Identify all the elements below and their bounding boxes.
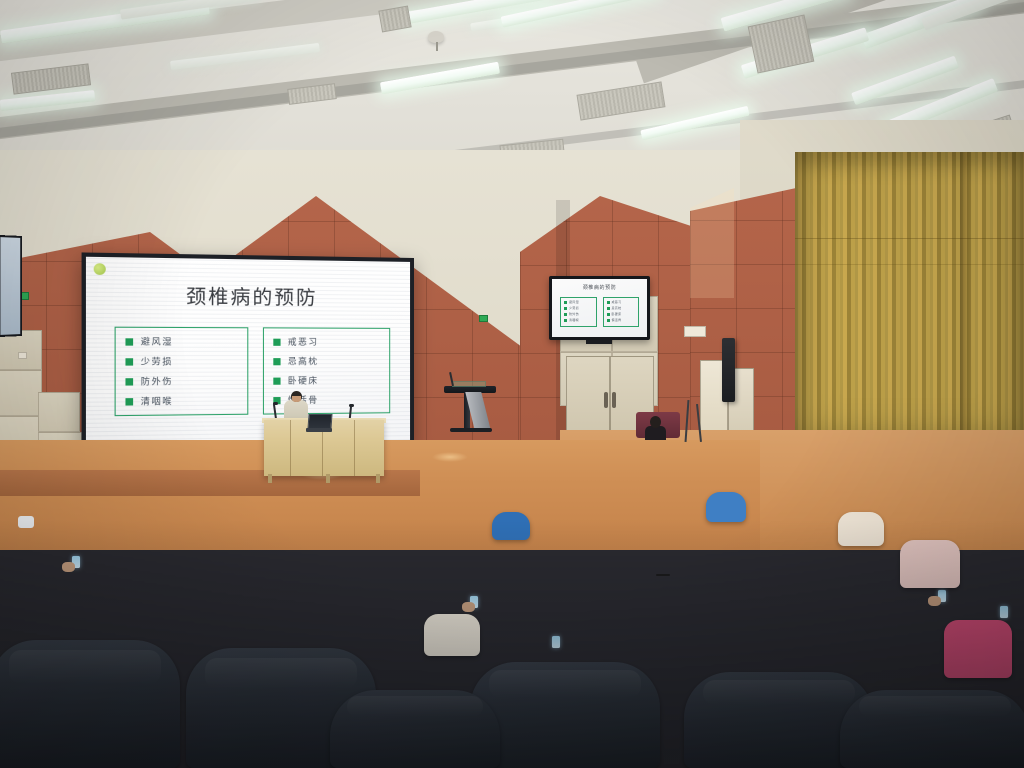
- microphone-head-icon: [273, 402, 278, 405]
- curtain-seam: [795, 264, 1024, 265]
- slide-bullet-left-label: 少劳损: [141, 355, 173, 368]
- audience-jacket: [838, 512, 884, 546]
- face-mask: [18, 516, 34, 528]
- slide-bullet-box-right: 戒恶习忌高枕卧硬床慎活骨: [263, 327, 390, 414]
- monitor-slide-title: 颈椎病的预防: [552, 284, 647, 291]
- audience-jacket: [944, 620, 1012, 678]
- monitor-bullet-right-label: 卧硬床: [612, 312, 622, 316]
- linear-fluorescent-tube: [170, 43, 320, 70]
- square-bullet-icon: [607, 301, 610, 304]
- audience-hand: [928, 596, 941, 606]
- monitor-bullet-left-item: 避风湿: [564, 300, 594, 304]
- ceiling-smoke-detector-icon: [428, 31, 444, 43]
- wall-control-panel[interactable]: [684, 326, 706, 337]
- audience-jacket: [706, 492, 746, 522]
- square-bullet-icon: [564, 319, 567, 322]
- slide-bullet-left-item: 少劳损: [125, 355, 242, 368]
- audience-hand: [462, 602, 475, 612]
- monitor-bullet-right-item: 忌高枕: [607, 306, 637, 310]
- square-bullet-icon: [273, 377, 280, 384]
- slide-bullet-left-label: 防外伤: [141, 375, 173, 388]
- audience-jacket: [424, 614, 480, 656]
- square-bullet-icon: [273, 338, 280, 345]
- slide-bullet-left-item: 清咽喉: [125, 394, 242, 407]
- slide-bullet-left-label: 清咽喉: [141, 395, 173, 408]
- ceiling-air-vent: [748, 14, 815, 73]
- monitor-bullet-right-item: 慎活骨: [607, 318, 637, 322]
- auditorium-photo: 颈椎病的预防 避风湿少劳损防外伤清咽喉 戒恶习忌高枕卧硬床慎活骨 颈椎病的预防 …: [0, 0, 1024, 768]
- monitor-bullet-box-right: 戒恶习忌高枕卧硬床慎活骨: [603, 297, 640, 327]
- auditorium-seat[interactable]: [840, 690, 1024, 768]
- smartphone[interactable]: [1000, 606, 1008, 618]
- square-bullet-icon: [564, 307, 567, 310]
- auditorium-seat[interactable]: [330, 690, 500, 768]
- microphone-head-icon: [349, 404, 354, 407]
- seated-staff-head: [650, 416, 661, 428]
- square-bullet-icon: [125, 358, 133, 365]
- ceiling-air-vent: [576, 81, 665, 120]
- audience-hand: [62, 562, 75, 572]
- square-bullet-icon: [125, 338, 133, 345]
- stage-confidence-monitor[interactable]: 颈椎病的预防 避风湿少劳损防外伤清咽喉 戒恶习忌高枕卧硬床慎活骨: [549, 276, 650, 340]
- curtain-shadow: [960, 152, 972, 472]
- ceiling-air-vent: [11, 63, 91, 94]
- monitor-bullet-left-item: 清咽喉: [564, 318, 594, 322]
- monitor-bullet-right-label: 忌高枕: [612, 306, 622, 310]
- eyeglasses: [656, 574, 670, 576]
- slide-columns: 避风湿少劳损防外伤清咽喉 戒恶习忌高枕卧硬床慎活骨: [115, 327, 391, 416]
- monitor-stand: [586, 340, 612, 344]
- audience-jacket: [900, 540, 960, 588]
- ceiling-air-vent: [378, 6, 411, 33]
- slide-bullet-box-left: 避风湿少劳损防外伤清咽喉: [115, 327, 249, 416]
- presenter-face: [292, 396, 301, 402]
- square-bullet-icon: [607, 319, 610, 322]
- wall-panel-beige: [0, 370, 42, 416]
- monitor-bullet-left-label: 避风湿: [569, 300, 579, 304]
- left-wall-monitor[interactable]: [0, 235, 22, 337]
- smartphone[interactable]: [552, 636, 560, 648]
- square-bullet-icon: [125, 398, 133, 405]
- monitor-bullet-box-left: 避风湿少劳损防外伤清咽喉: [560, 297, 597, 327]
- square-bullet-icon: [607, 307, 610, 310]
- monitor-bullet-right-item: 卧硬床: [607, 312, 637, 316]
- slide-bullet-right-label: 戒恶习: [288, 336, 319, 348]
- left-wall-monitor-screen: [0, 237, 20, 335]
- confidence-monitor-screen: 颈椎病的预防 避风湿少劳损防外伤清咽喉 戒恶习忌高枕卧硬床慎活骨: [552, 279, 647, 337]
- square-bullet-icon: [125, 378, 133, 385]
- monitor-bullet-right-label: 慎活骨: [612, 318, 622, 322]
- exit-sign-icon: [479, 315, 488, 322]
- auditorium-seat[interactable]: [0, 640, 180, 768]
- monitor-bullet-left-label: 清咽喉: [569, 318, 579, 322]
- monitor-bullet-left-label: 防外伤: [569, 312, 579, 316]
- lectern-glass-panel: [452, 381, 486, 387]
- square-bullet-icon: [273, 358, 280, 365]
- square-bullet-icon: [607, 313, 610, 316]
- slide-title: 颈椎病的预防: [86, 280, 410, 311]
- monitor-bullet-right-label: 戒恶习: [612, 300, 622, 304]
- slide-bullet-right-item: 戒恶习: [273, 336, 384, 348]
- door-handle-icon[interactable]: [604, 392, 608, 408]
- slide-bullet-right-label: 卧硬床: [288, 374, 319, 386]
- square-bullet-icon: [564, 301, 567, 304]
- curtain-seam: [795, 238, 1024, 239]
- laptop-screen[interactable]: [307, 414, 332, 429]
- seated-audience: [0, 430, 1024, 768]
- slide-bullet-left-item: 避风湿: [125, 335, 242, 348]
- wall-panel-beige: [38, 392, 80, 432]
- wall-switch-plate[interactable]: [18, 352, 27, 359]
- square-bullet-icon: [564, 313, 567, 316]
- door-handle-icon[interactable]: [612, 392, 616, 408]
- monitor-bullet-left-label: 少劳损: [569, 306, 579, 310]
- monitor-columns: 避风湿少劳损防外伤清咽喉 戒恶习忌高枕卧硬床慎活骨: [560, 297, 639, 327]
- slide-bullet-right-item: 忌高枕: [273, 355, 384, 367]
- monitor-bullet-left-item: 少劳损: [564, 306, 594, 310]
- slide-bullet-left-item: 防外伤: [125, 375, 242, 388]
- audience-jacket: [492, 512, 530, 540]
- slide-bullet-left-label: 避风湿: [141, 335, 173, 348]
- wall-speaker: [722, 338, 735, 402]
- slide-bullet-right-label: 忌高枕: [288, 355, 319, 367]
- slide-bullet-right-item: 卧硬床: [273, 374, 384, 387]
- green-indicator-dot-icon: [94, 263, 106, 275]
- monitor-bullet-right-item: 戒恶习: [607, 300, 637, 304]
- stage-curtain: [795, 152, 1024, 472]
- monitor-bullet-left-item: 防外伤: [564, 312, 594, 316]
